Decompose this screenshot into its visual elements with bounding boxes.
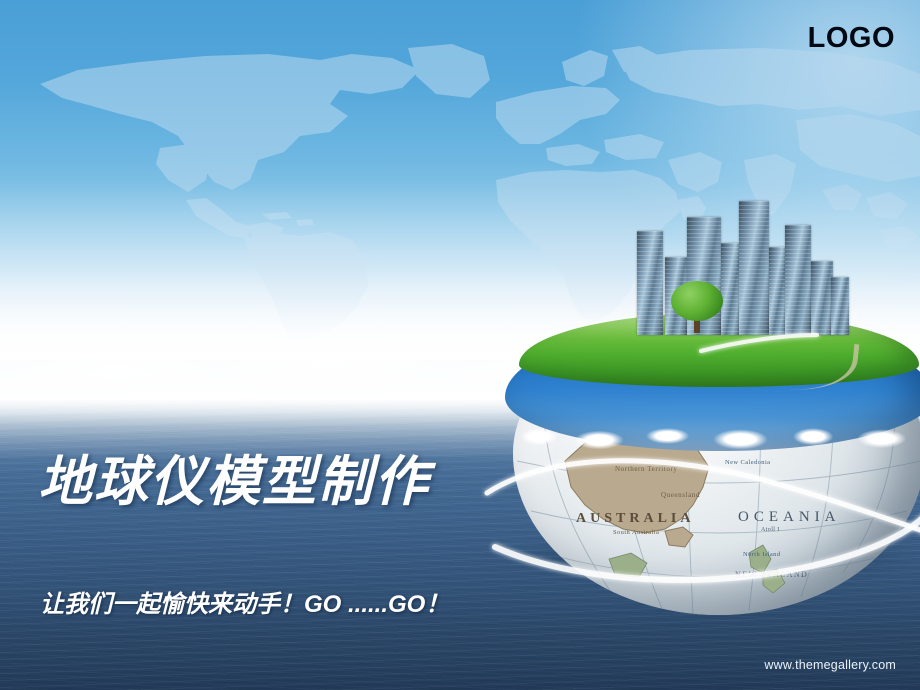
city-skyline-icon [625,195,855,335]
building [739,201,769,335]
tree-crown [671,281,723,321]
page-subtitle: 让我们一起愉快来动手！GO ......GO！ [40,584,449,619]
tree-icon [671,281,723,333]
building [785,225,811,335]
globe-hemisphere-icon: AUSTRALIA OCEANIA NEW ZEALAND VANUATU Qu… [505,195,920,595]
footer-url[interactable]: www.themegallery.com [764,658,896,672]
building [637,231,663,335]
building [811,261,833,335]
building [831,277,849,335]
building [721,243,741,335]
presentation-slide: AUSTRALIA OCEANIA NEW ZEALAND VANUATU Qu… [0,0,920,690]
page-title: 地球仪模型制作 [38,437,430,516]
logo-text[interactable]: LOGO [808,22,895,55]
